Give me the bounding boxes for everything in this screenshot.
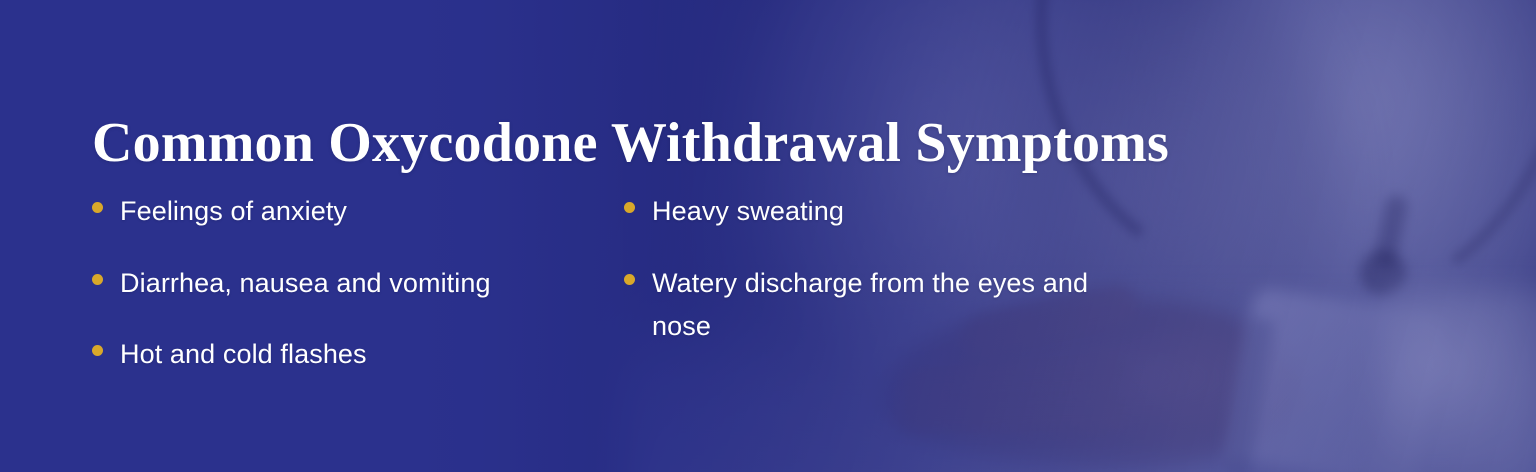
list-item: Heavy sweating [624,190,1124,234]
banner-title: Common Oxycodone Withdrawal Symptoms [92,114,1169,173]
bullet-dot-icon [92,345,103,356]
bullet-dot-icon [624,202,635,213]
symptom-label: Diarrhea, nausea and vomiting [120,262,491,306]
list-item: Diarrhea, nausea and vomiting [92,262,592,306]
list-item: Feelings of anxiety [92,190,592,234]
symptoms-left-column: Feelings of anxiety Diarrhea, nausea and… [92,190,592,405]
list-item: Watery discharge from the eyes and nose [624,262,1124,349]
bullet-dot-icon [92,274,103,285]
bullet-dot-icon [92,202,103,213]
symptom-label: Watery discharge from the eyes and nose [652,262,1124,349]
withdrawal-symptoms-banner: Common Oxycodone Withdrawal Symptoms Fee… [0,0,1536,472]
symptom-label: Heavy sweating [652,190,844,234]
symptom-label: Hot and cold flashes [120,333,367,377]
banner-content: Common Oxycodone Withdrawal Symptoms Fee… [0,0,1536,472]
list-item: Hot and cold flashes [92,333,592,377]
symptom-label: Feelings of anxiety [120,190,347,234]
symptoms-right-column: Heavy sweating Watery discharge from the… [624,190,1124,377]
bullet-dot-icon [624,274,635,285]
